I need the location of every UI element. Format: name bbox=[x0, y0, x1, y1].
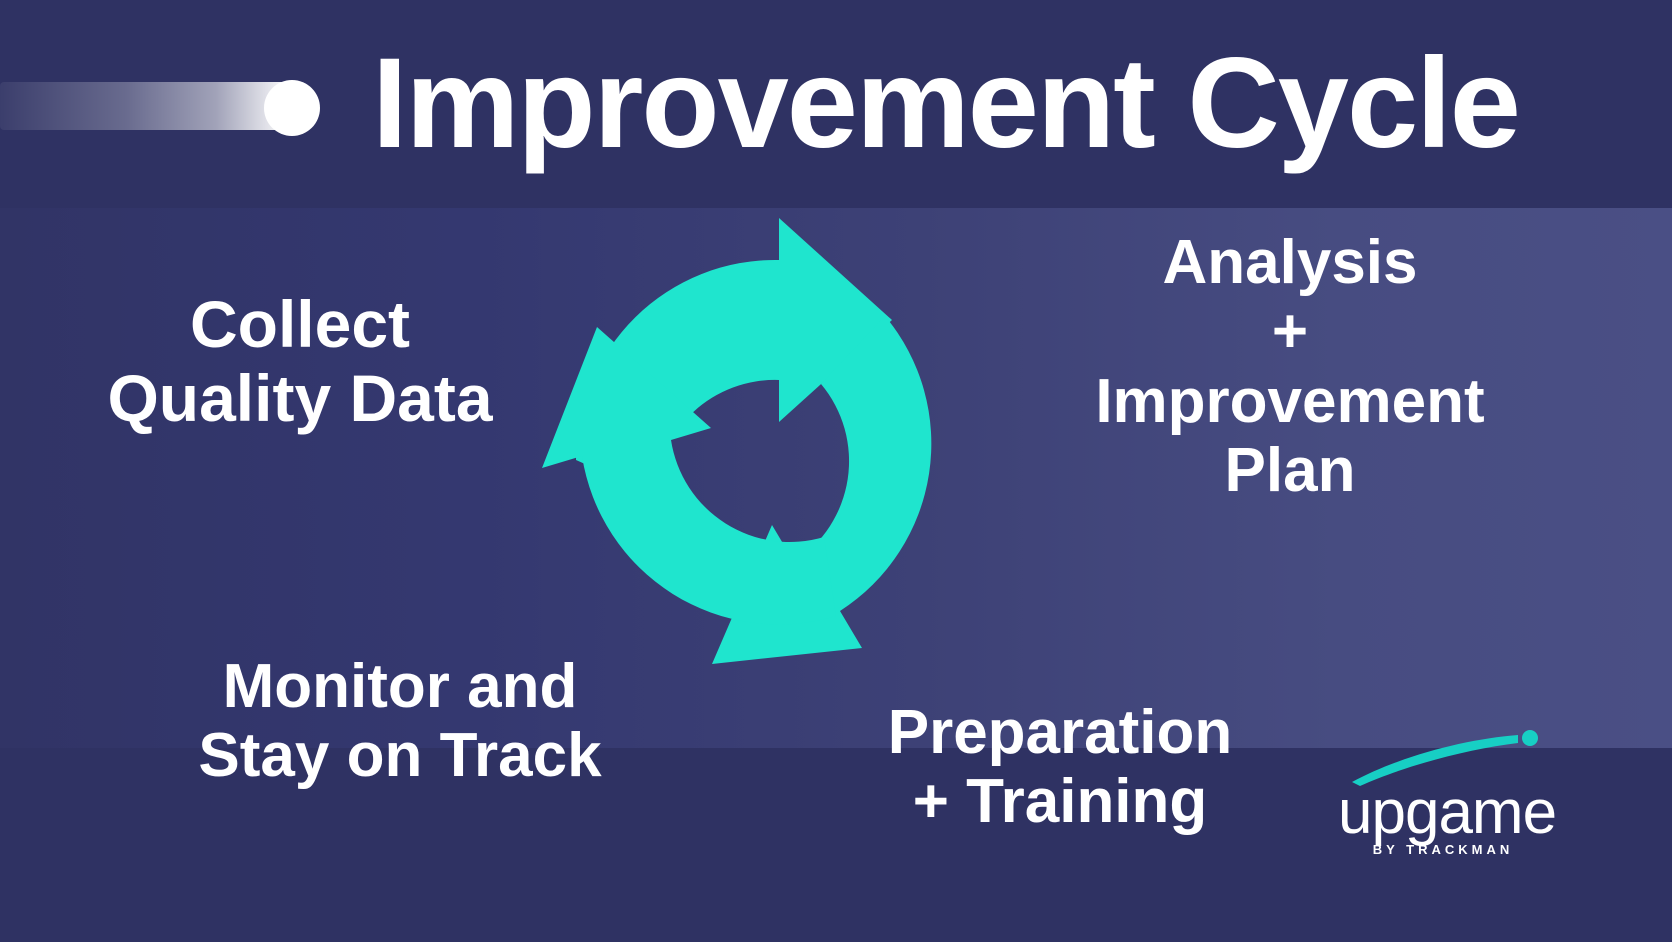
label-collect-quality-data: Collect Quality Data bbox=[40, 288, 560, 436]
improvement-cycle-diagram bbox=[540, 212, 1010, 682]
gradient-bar-icon bbox=[0, 82, 300, 130]
swoosh-dot-icon bbox=[1522, 730, 1538, 746]
slide-canvas: Improvement Cycle Collect Quality Data A… bbox=[0, 0, 1672, 942]
cycle-arrows-icon bbox=[540, 212, 1010, 682]
label-preparation-training: Preparation + Training bbox=[800, 698, 1320, 837]
logo-tagline: BY TRACKMAN bbox=[1338, 842, 1548, 857]
upgame-logo: upgame BY TRACKMAN bbox=[1338, 730, 1548, 860]
page-title: Improvement Cycle bbox=[372, 24, 1519, 184]
label-monitor-stay-on-track: Monitor and Stay on Track bbox=[120, 652, 680, 791]
label-analysis-improvement-plan: Analysis + Improvement Plan bbox=[1010, 228, 1570, 506]
header-dot-icon bbox=[264, 80, 320, 136]
slide-header: Improvement Cycle bbox=[0, 0, 1672, 208]
cycle-arrow-group bbox=[542, 218, 931, 664]
logo-wordmark: upgame bbox=[1338, 782, 1548, 844]
